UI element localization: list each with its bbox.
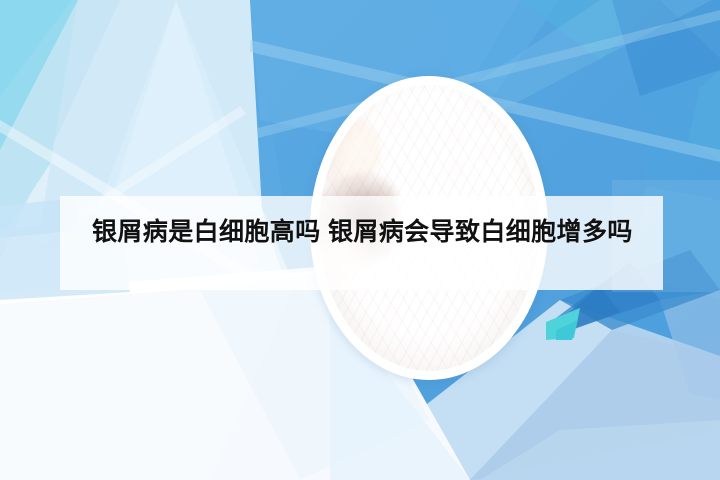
thumbnail-canvas: 银屑病是白细胞高吗 银屑病会导致白细胞增多吗 <box>0 0 720 480</box>
page-title: 银屑病是白细胞高吗 银屑病会导致白细胞增多吗 <box>92 214 652 250</box>
